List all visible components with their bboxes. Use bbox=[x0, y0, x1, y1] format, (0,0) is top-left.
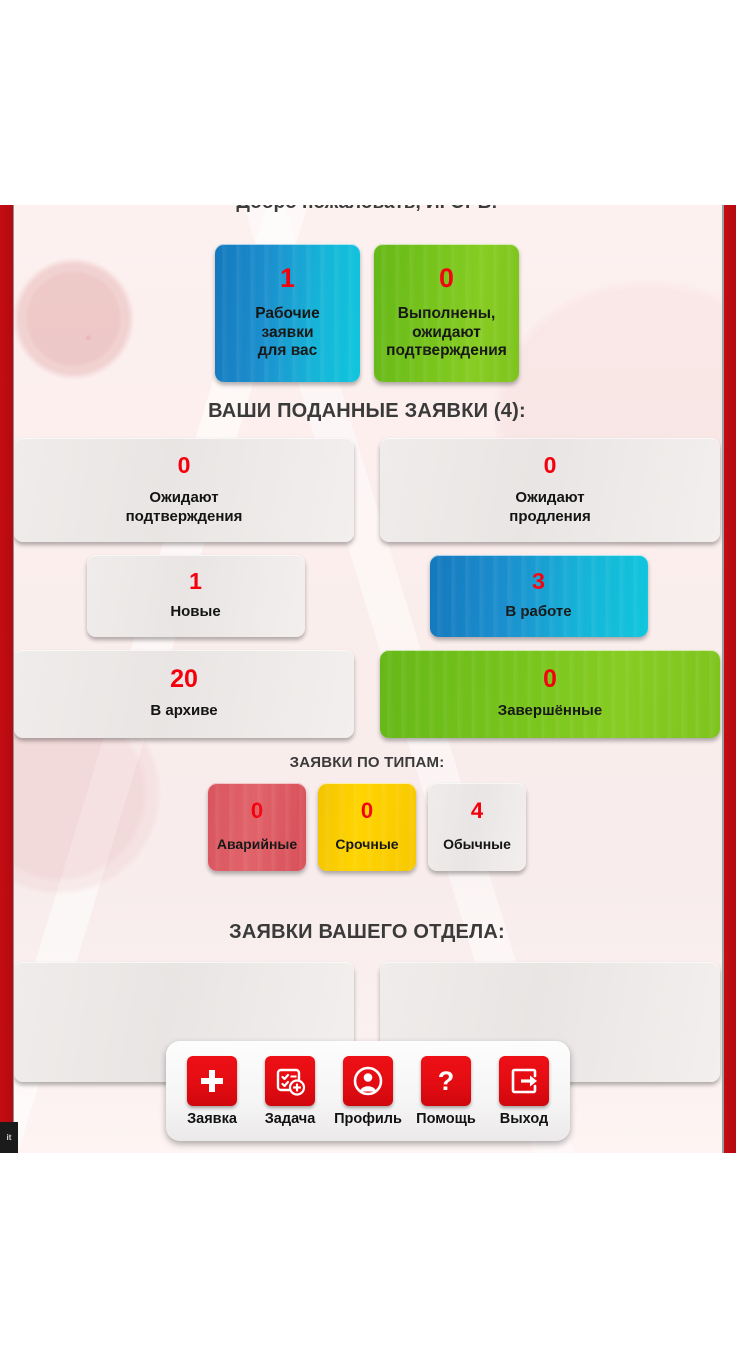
nav-button-new-task[interactable]: Задача bbox=[255, 1056, 325, 1127]
card-label: Срочные bbox=[335, 836, 398, 853]
card-count: 0 bbox=[544, 454, 557, 477]
user-circle-icon bbox=[343, 1056, 393, 1106]
nav-button-profile[interactable]: Профиль bbox=[333, 1056, 403, 1127]
card-label: Рабочиезаявкидля вас bbox=[255, 305, 320, 362]
card-type-normal[interactable]: 4 Обычные bbox=[428, 783, 526, 871]
section-title-submitted: ВАШИ ПОДАННЫЕ ЗАЯВКИ (4): bbox=[14, 400, 720, 423]
card-count: 4 bbox=[471, 800, 483, 822]
nav-button-new-request[interactable]: Заявка bbox=[177, 1056, 247, 1127]
submitted-status-row: 1 Новые 3 В работе bbox=[14, 555, 720, 637]
card-count: 0 bbox=[251, 800, 263, 822]
card-label: Новые bbox=[170, 603, 220, 621]
submitted-archive-row: 20 В архиве 0 Завершённые bbox=[14, 650, 720, 738]
card-label: В работе bbox=[505, 603, 571, 621]
card-awaiting-extension[interactable]: 0 Ожидаютпродления bbox=[380, 438, 720, 542]
question-mark-icon: ? bbox=[421, 1056, 471, 1106]
card-count: 1 bbox=[189, 570, 202, 593]
card-new[interactable]: 1 Новые bbox=[87, 555, 305, 637]
card-count: 1 bbox=[280, 265, 295, 292]
card-label: Ожидаютпродления bbox=[509, 489, 590, 526]
bottom-toolbar: Заявка Задача bbox=[166, 1041, 570, 1141]
nav-label: Профиль bbox=[334, 1111, 402, 1127]
nav-button-logout[interactable]: Выход bbox=[489, 1056, 559, 1127]
corner-badge: it bbox=[0, 1122, 18, 1153]
card-finished[interactable]: 0 Завершённые bbox=[380, 650, 720, 738]
section-title-department: ЗАЯВКИ ВАШЕГО ОТДЕЛА: bbox=[14, 921, 720, 944]
by-type-row: 0 Аварийные 0 Срочные 4 Обычные bbox=[14, 783, 720, 871]
card-in-progress[interactable]: 3 В работе bbox=[430, 555, 648, 637]
greeting-banner: Добро пожаловать, ИГОРЬ! bbox=[14, 205, 720, 221]
card-type-urgent[interactable]: 0 Срочные bbox=[318, 783, 416, 871]
card-label: Обычные bbox=[443, 836, 511, 853]
checklist-add-icon bbox=[265, 1056, 315, 1106]
nav-label: Заявка bbox=[187, 1111, 237, 1127]
card-count: 0 bbox=[439, 265, 454, 292]
card-count: 0 bbox=[361, 800, 373, 822]
card-label: В архиве bbox=[150, 702, 217, 720]
card-label: Ожидаютподтверждения bbox=[126, 489, 243, 526]
plus-icon bbox=[187, 1056, 237, 1106]
section-title-by-type: ЗАЯВКИ ПО ТИПАМ: bbox=[14, 754, 720, 771]
nav-label: Помощь bbox=[416, 1111, 476, 1127]
card-archived[interactable]: 20 В архиве bbox=[14, 650, 354, 738]
card-type-emergency[interactable]: 0 Аварийные bbox=[208, 783, 306, 871]
logout-arrow-icon bbox=[499, 1056, 549, 1106]
svg-text:?: ? bbox=[438, 1066, 455, 1096]
device-rail-left bbox=[0, 205, 14, 1153]
dashboard-content: Добро пожаловать, ИГОРЬ! 1 Рабочиезаявки… bbox=[14, 205, 720, 1153]
device-rail-right bbox=[722, 205, 736, 1153]
card-label: Аварийные bbox=[217, 836, 297, 853]
app-viewport: Добро пожаловать, ИГОРЬ! 1 Рабочиезаявки… bbox=[0, 205, 736, 1153]
card-count: 20 bbox=[170, 667, 198, 692]
greeting-text: Добро пожаловать, ИГОРЬ! bbox=[14, 205, 720, 214]
card-work-requests[interactable]: 1 Рабочиезаявкидля вас bbox=[215, 244, 360, 382]
card-count: 0 bbox=[543, 667, 557, 692]
card-count: 3 bbox=[532, 570, 545, 593]
card-awaiting-confirmation[interactable]: 0 Ожидаютподтверждения bbox=[14, 438, 354, 542]
nav-button-help[interactable]: ? Помощь bbox=[411, 1056, 481, 1127]
card-label: Завершённые bbox=[498, 702, 602, 720]
card-label: Выполнены,ожидаютподтверждения bbox=[386, 305, 507, 362]
submitted-pending-row: 0 Ожидаютподтверждения 0 Ожидаютпродлени… bbox=[14, 438, 720, 542]
nav-label: Задача bbox=[265, 1111, 316, 1127]
card-count: 0 bbox=[178, 454, 191, 477]
work-requests-row: 1 Рабочиезаявкидля вас 0 Выполнены,ожида… bbox=[14, 244, 720, 382]
card-completed-awaiting-confirmation[interactable]: 0 Выполнены,ожидаютподтверждения bbox=[374, 244, 519, 382]
nav-label: Выход bbox=[500, 1111, 548, 1127]
